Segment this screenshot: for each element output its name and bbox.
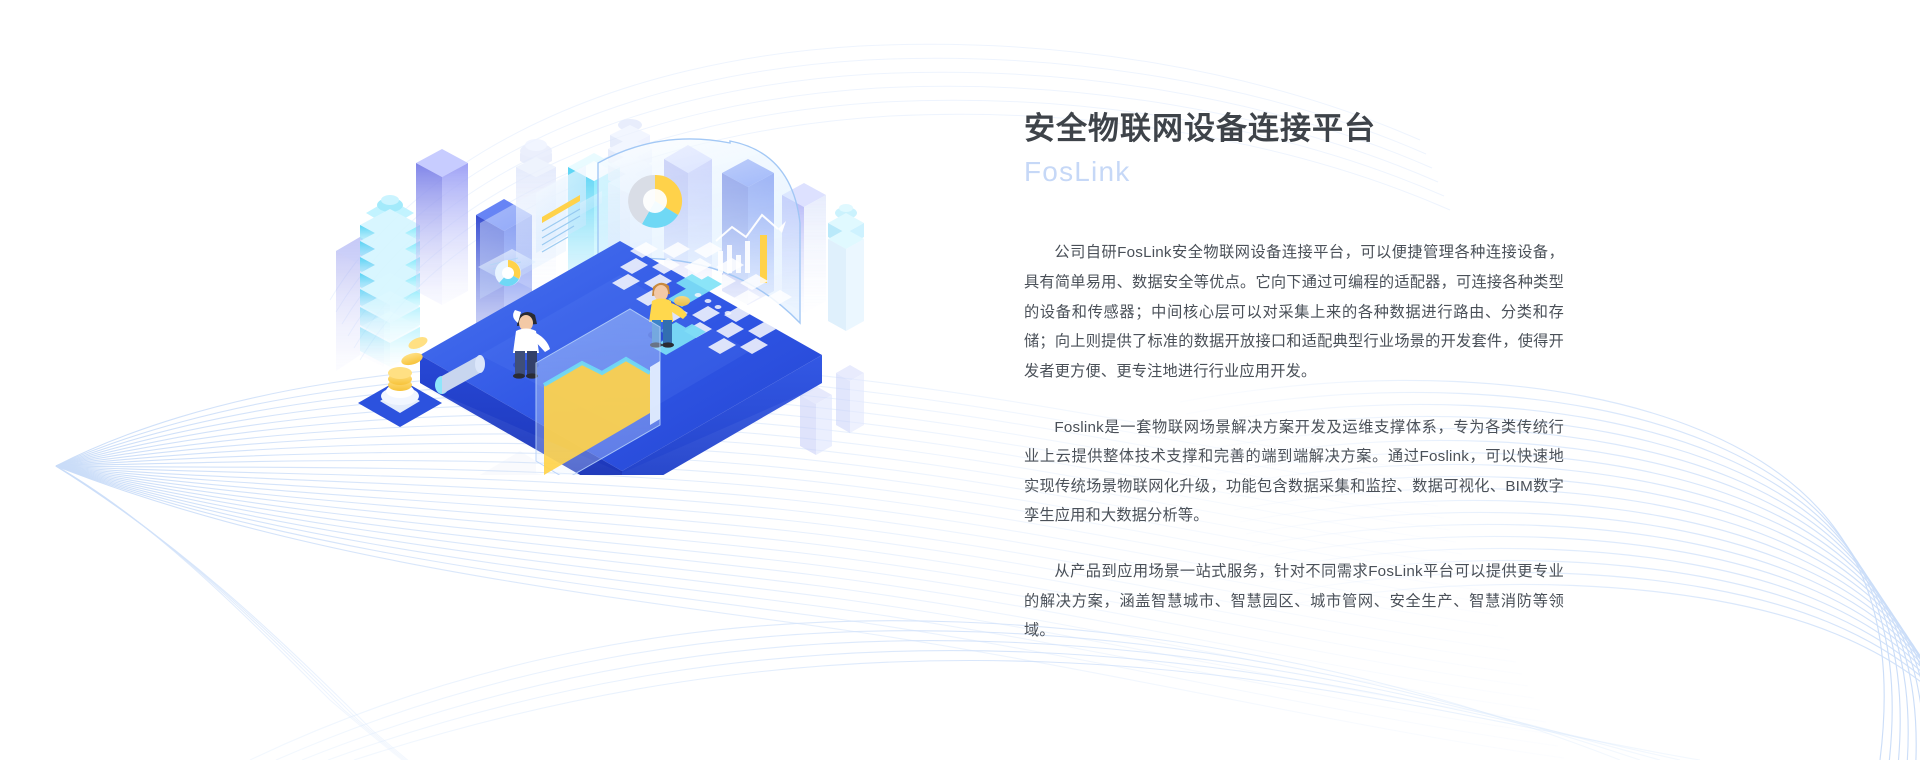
hero-section: 安全物联网设备连接平台 FosLink 公司自研FosLink安全物联网设备连接… [0, 0, 1920, 760]
tower-pagoda-cyan [360, 195, 420, 367]
description-paragraph-3: 从产品到应用场景一站式服务，针对不同需求FosLink平台可以提供更专业的解决方… [1024, 557, 1564, 646]
background-wave-decoration [0, 0, 1920, 760]
description-paragraph-1: 公司自研FosLink安全物联网设备连接平台，可以便捷管理各种连接设备，具有简单… [1024, 238, 1564, 386]
hero-copy: 安全物联网设备连接平台 FosLink 公司自研FosLink安全物联网设备连接… [1024, 110, 1564, 646]
page-subtitle: FosLink [1024, 155, 1564, 189]
panel-donut-left [495, 260, 521, 286]
hero-illustration [330, 55, 890, 475]
hero-description: 公司自研FosLink安全物联网设备连接平台，可以便捷管理各种连接设备，具有简单… [1024, 238, 1564, 646]
page-title: 安全物联网设备连接平台 [1024, 110, 1564, 149]
tower-pagoda-right [828, 204, 864, 331]
description-paragraph-2: Foslink是一套物联网场景解决方案开发及运维支撑体系，专为各类传统行业上云提… [1024, 413, 1564, 532]
tower-violet-1 [416, 149, 468, 305]
